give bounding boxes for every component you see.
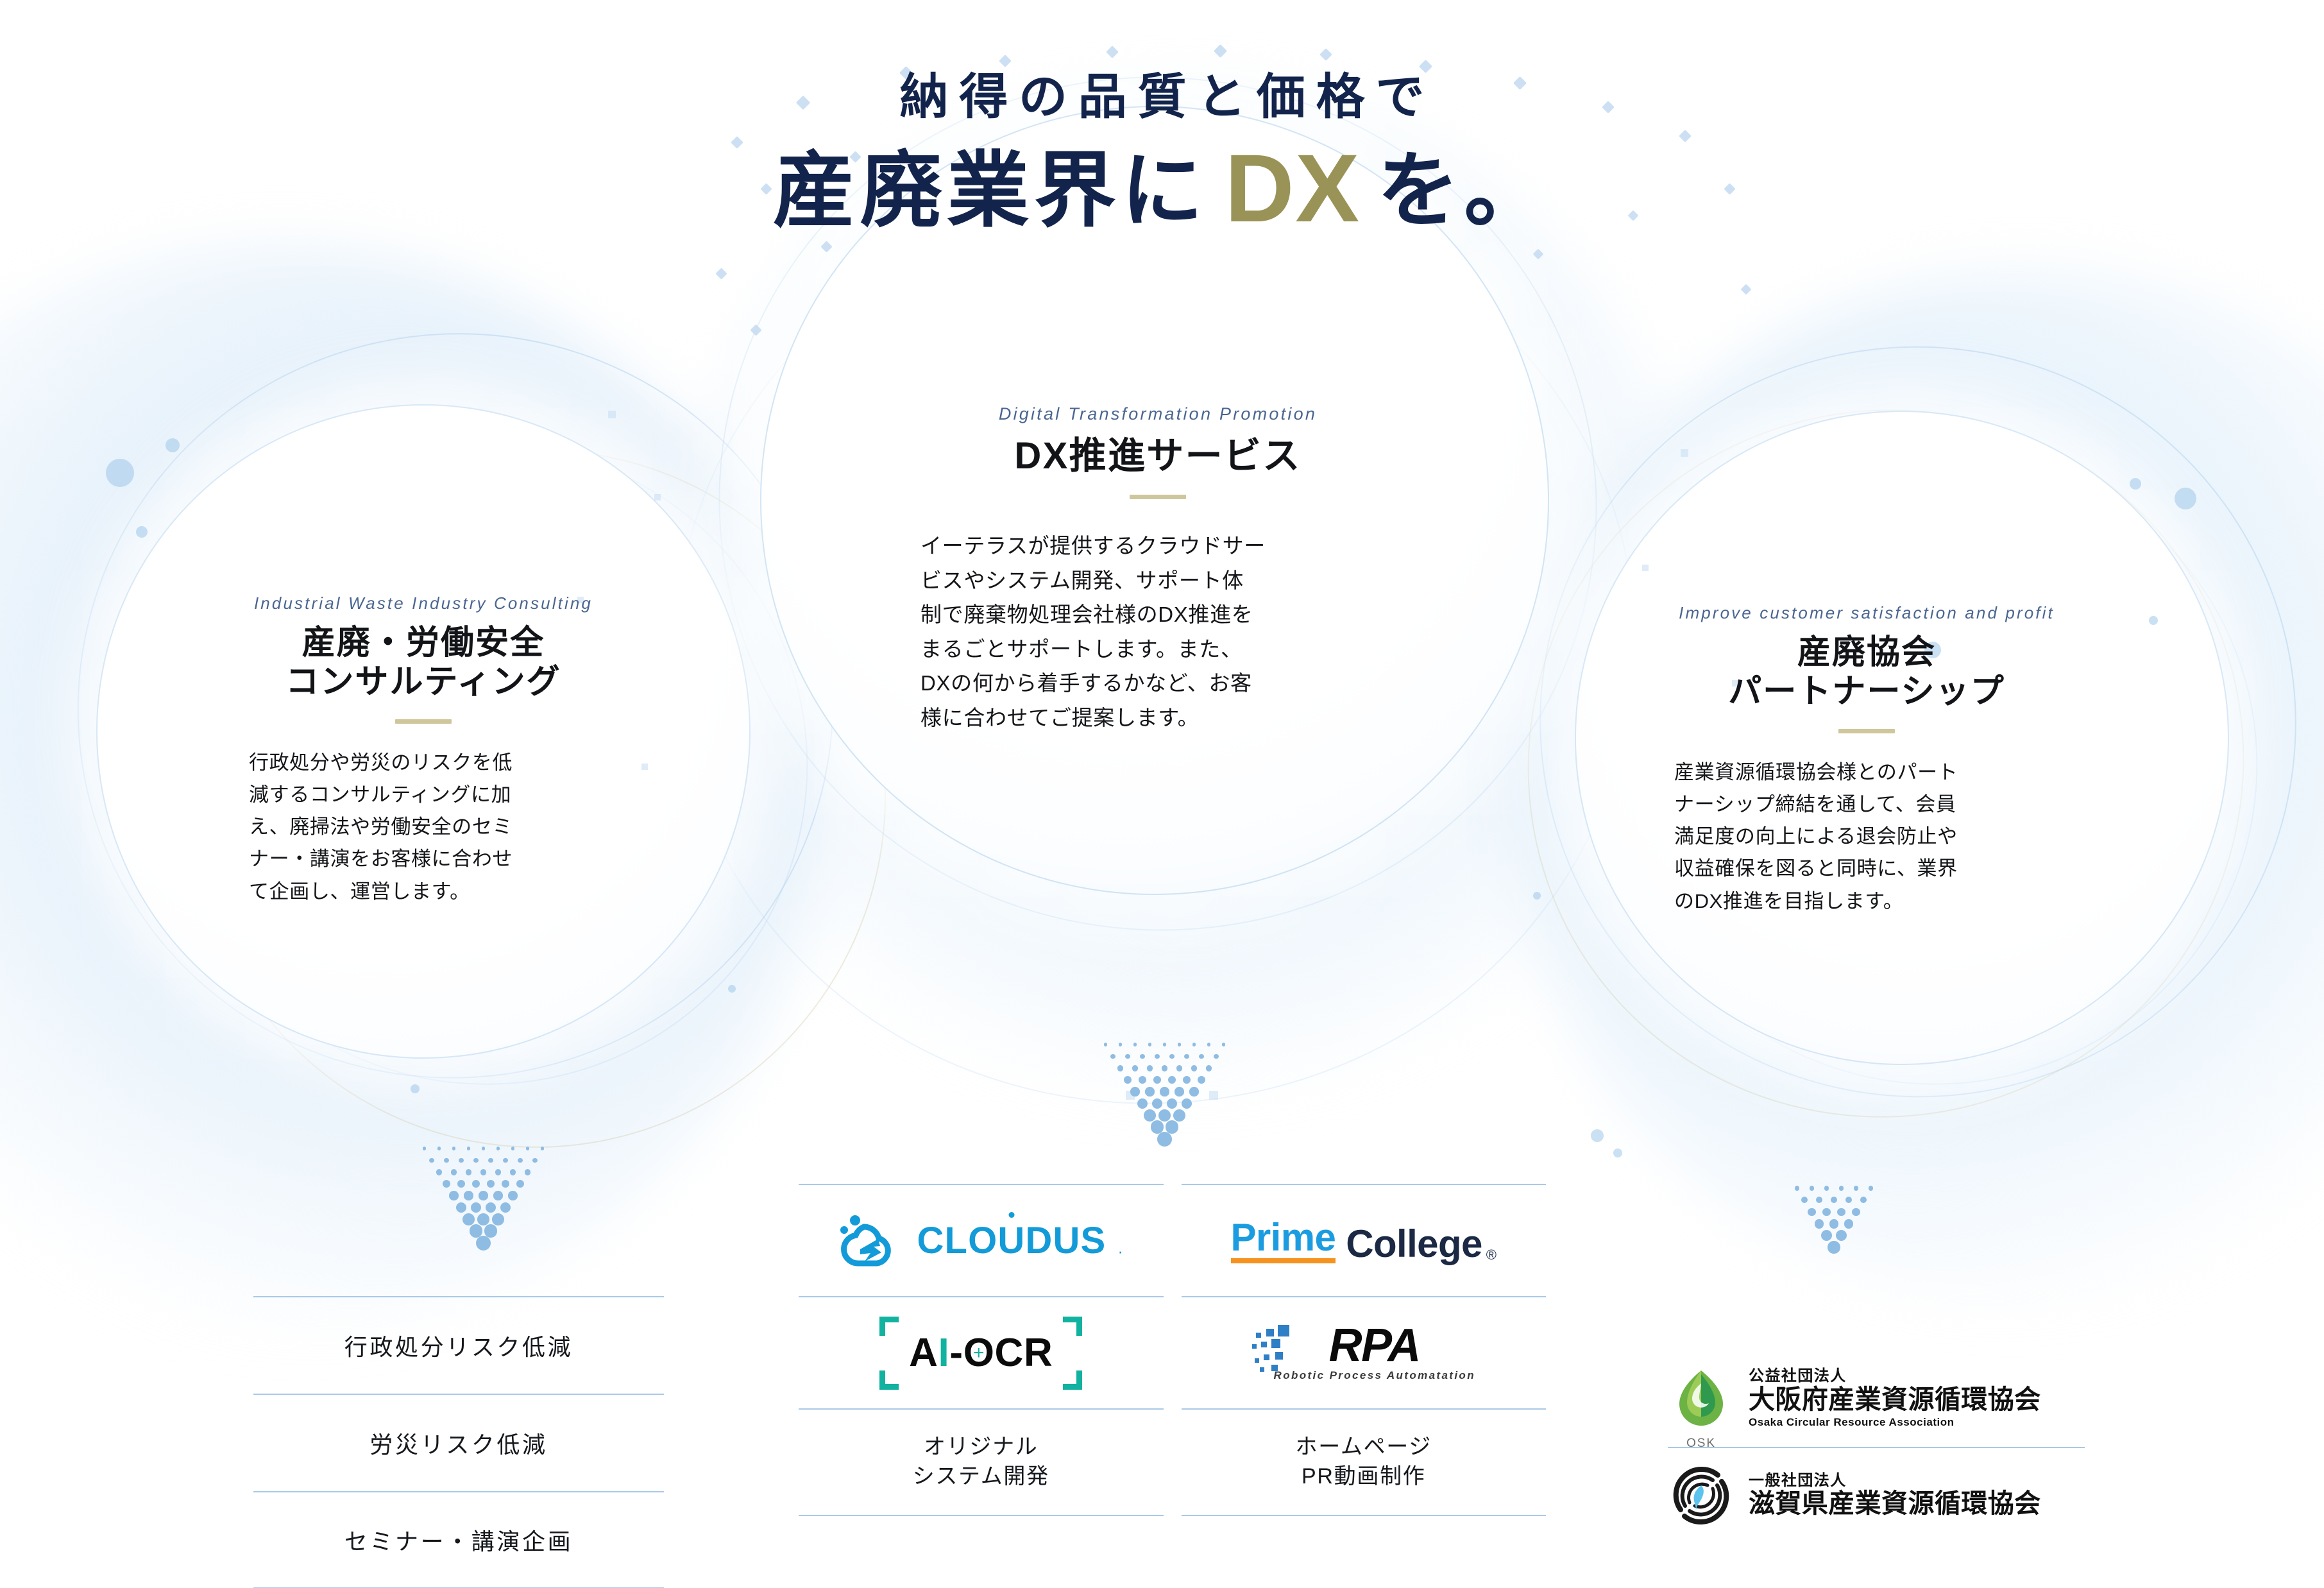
headline-line-1: 納得の品質と価格で [0,71,2324,124]
decorative-diamond [1533,249,1544,260]
headline-accent-dx: DX [1208,134,1377,242]
card-title: DX推進サービス [882,434,1434,478]
rpa-wordmark: RPA [1274,1324,1475,1368]
registered-mark: ® [1486,1247,1497,1263]
ai-ocr-logo: AI-OCR [879,1317,1082,1390]
service-card-partnership: Improve customer satisfaction and profit… [1629,603,2104,918]
cloud-arrow-icon [838,1214,905,1268]
service-caption-cell: オリジナル システム開発 [799,1408,1164,1516]
decorative-square [654,494,661,500]
decorative-square [1126,1091,1135,1100]
corner-bracket-icon [879,1317,899,1336]
decorative-diamond [750,324,761,336]
decorative-diamond [999,55,1012,67]
decorative-dot [2130,478,2141,490]
prime-college-logo: Prime College ® [1231,1218,1497,1263]
card-rule [1130,495,1186,499]
service-caption: ホームページ PR動画制作 [1296,1433,1432,1492]
decorative-dot [1591,1129,1604,1142]
decorative-square [1642,565,1649,571]
card-rule [1838,729,1895,733]
decorative-square [1209,1091,1218,1100]
card-eyebrow: Digital Transformation Promotion [882,404,1434,424]
card-body: イーテラスが提供するクラウドサー ビスやシステム開発、サポート体 制で廃棄物処理… [920,529,1414,735]
decorative-dot [411,1084,420,1093]
decorative-dot [728,985,736,993]
cloudus-dot: · [1117,1242,1123,1268]
list-item[interactable]: 労災リスク低減 [253,1394,664,1491]
decorative-dot [1613,1148,1622,1157]
rpa-logo: RPA Robotic Process Automatation [1252,1324,1475,1382]
card-eyebrow: Industrial Waste Industry Consulting [192,593,654,613]
osk-leaf-emblem-icon: OSK [1668,1365,1735,1432]
headline-line-2: 産廃業界にDXを。 [0,136,2324,240]
association-name: 大阪府産業資源循環協会 [1749,1385,2041,1415]
service-column-left: CLOUDUS · AI-OCR オリジナル システム開発 [799,1184,1164,1516]
consulting-feature-list: 行政処分リスク低減 労災リスク低減 セミナー・講演企画 [253,1296,664,1588]
rpa-logo-cell[interactable]: RPA Robotic Process Automatation [1182,1296,1547,1408]
hero-headline: 納得の品質と価格で 産廃業界にDXを。 [0,71,2324,240]
association-logo-list: OSK 公益社団法人 大阪府産業資源循環協会 Osaka Circular Re… [1668,1351,2085,1543]
shiga-swirl-emblem-icon [1668,1462,1735,1529]
service-logo-grid: CLOUDUS · AI-OCR オリジナル システム開発 [799,1184,1546,1516]
corner-bracket-icon [879,1370,899,1390]
decorative-diamond [715,268,727,279]
decorative-dot [165,438,180,452]
association-row-osaka[interactable]: OSK 公益社団法人 大阪府産業資源循環協会 Osaka Circular Re… [1668,1351,2085,1447]
prime-word: Prime [1231,1218,1336,1263]
association-text: 一般社団法人 滋賀県産業資源循環協会 [1749,1473,2041,1519]
card-title: 産廃協会 パートナーシップ [1629,633,2104,712]
decorative-dot [1533,892,1541,900]
decorative-diamond [1319,48,1332,61]
decorative-dot [2175,488,2196,509]
cloudus-logo: CLOUDUS · [838,1214,1123,1268]
decorative-square [1681,449,1688,457]
cloudus-wordmark: CLOUDUS [917,1219,1106,1262]
decorative-diamond [1106,46,1119,58]
association-text: 公益社団法人 大阪府産業資源循環協会 Osaka Circular Resour… [1749,1368,2041,1430]
association-row-shiga[interactable]: 一般社団法人 滋賀県産業資源循環協会 [1668,1447,2085,1543]
decorative-diamond [820,241,832,252]
list-item[interactable]: セミナー・講演企画 [253,1491,664,1588]
page-root: 納得の品質と価格で 産廃業界にDXを。 Industrial Waste Ind… [0,0,2324,1588]
college-word: College [1346,1225,1482,1263]
decorative-diamond [1214,44,1227,58]
association-name: 滋賀県産業資源循環協会 [1749,1489,2041,1519]
decorative-dot [2149,616,2158,625]
ai-ocr-wordmark: AI-OCR [909,1331,1053,1375]
card-title: 産廃・労働安全 コンサルティング [192,624,654,703]
osk-abbreviation: OSK [1668,1437,1735,1451]
service-card-consulting: Industrial Waste Industry Consulting 産廃・… [192,593,654,908]
association-english-name: Osaka Circular Resource Association [1749,1416,2041,1429]
service-caption-cell: ホームページ PR動画制作 [1182,1408,1547,1516]
service-card-dx: Digital Transformation Promotion DX推進サービ… [882,404,1434,735]
cloudus-logo-cell[interactable]: CLOUDUS · [799,1184,1164,1296]
headline-line-2-pre: 産廃業界に [773,145,1208,237]
card-body: 行政処分や労災のリスクを低 減するコンサルティングに加 え、廃掃法や労働安全のセ… [249,747,629,908]
card-rule [395,719,452,724]
pixel-dissolve-icon [1252,1325,1292,1375]
prime-college-logo-cell[interactable]: Prime College ® [1182,1184,1547,1296]
service-column-right: Prime College ® [1182,1184,1547,1516]
card-body: 産業資源循環協会様とのパート ナーシップ締結を通して、会員 満足度の向上による退… [1674,756,2091,918]
card-eyebrow: Improve customer satisfaction and profit [1629,603,2104,623]
list-item[interactable]: 行政処分リスク低減 [253,1296,664,1394]
corner-bracket-icon [1063,1370,1082,1390]
decorative-dot [136,526,148,538]
association-kana: 一般社団法人 [1749,1473,2041,1489]
decorative-diamond [1741,284,1752,295]
rpa-subtitle: Robotic Process Automatation [1274,1369,1475,1382]
decorative-dot [106,459,134,487]
ai-ocr-logo-cell[interactable]: AI-OCR [799,1296,1164,1408]
decorative-square [608,411,616,418]
service-caption: オリジナル システム開発 [913,1433,1049,1492]
association-kana: 公益社団法人 [1749,1368,2041,1385]
corner-bracket-icon [1063,1317,1082,1336]
headline-line-2-post: を。 [1377,145,1551,237]
